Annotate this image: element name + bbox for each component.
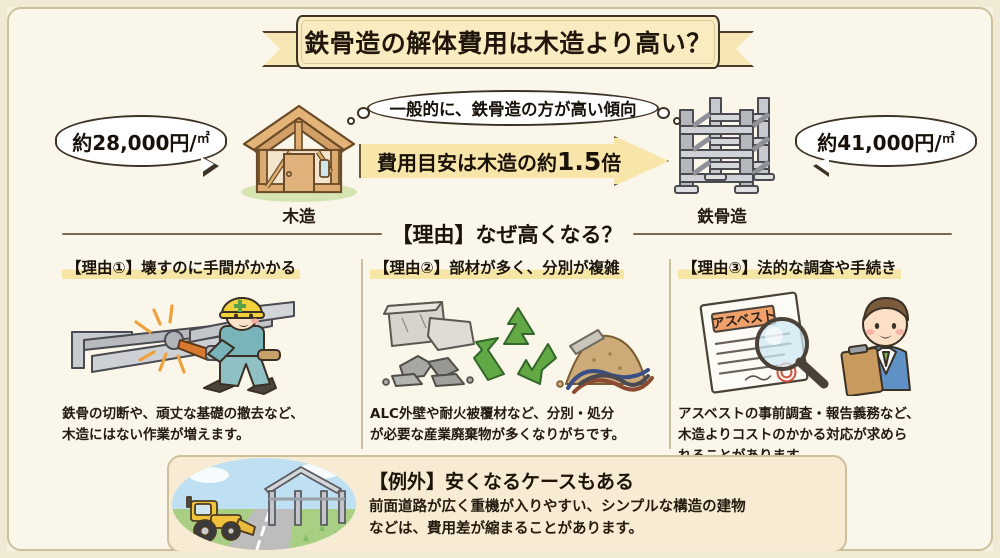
reason-1-illustration (62, 288, 358, 396)
page-title: 鉄骨造の解体費用は木造より高い？ (304, 24, 712, 60)
wood-price-value: 約28,000円/ (72, 131, 196, 155)
reason-2-header: 【理由②】部材が多く、分別が複雑 (370, 255, 624, 280)
cost-ratio-value: 1.5 (557, 147, 601, 176)
cost-ratio-suffix: 倍 (601, 151, 621, 175)
wood-bubble-tail-fill (201, 157, 214, 173)
reason-2-illustration (370, 288, 666, 396)
reason-column-3: 【理由③】法的な調査や手続き アスベスト (678, 255, 974, 467)
reason-2-body: ALC外壁や耐火被覆材など、分別・処分 が必要な産業廃棄物が多くなりがちです。 (370, 404, 666, 446)
reason-3-header: 【理由③】法的な調査や手続き (678, 255, 901, 280)
reason-1-body: 鉄骨の切断や、頑丈な基礎の撤去など、 木造にはない作業が増えます。 (62, 404, 358, 446)
exception-illustration (169, 457, 359, 551)
steel-frame-illustration (662, 92, 792, 202)
cloud-dot-right-large (657, 107, 670, 119)
infographic-root: 鉄骨造の解体費用は木造より高い？ 約28,000円/㎡ 約41,000円/㎡ (0, 0, 1000, 558)
reason-1-header: 【理由①】壊すのに手間がかかる (62, 255, 300, 280)
cost-ratio-label: 費用目安は木造の約1.5倍 (361, 147, 621, 176)
reasons-section-divider: 【理由】なぜ高くなる？ (62, 217, 952, 251)
wood-house-illustration (232, 92, 367, 202)
divider-line-right (633, 233, 953, 235)
steel-bubble-tail-fill (816, 157, 829, 173)
reason-column-1: 【理由①】壊すのに手間がかかる (62, 255, 358, 446)
trend-note-bubble: 一般的に、鉄骨造の方が高い傾向 (367, 90, 659, 126)
divider-line-left (62, 233, 382, 235)
column-separator-2 (669, 259, 671, 449)
ribbon-body: 鉄骨造の解体費用は木造より高い？ (296, 15, 720, 69)
cloud-dot-right-small (673, 117, 681, 125)
trend-note-text: 一般的に、鉄骨造の方が高い傾向 (389, 96, 636, 120)
wood-price-unit: ㎡ (197, 131, 210, 146)
cost-ratio-prefix: 費用目安は木造の約 (377, 151, 557, 175)
reasons-section-header: 【理由】なぜ高くなる？ (392, 219, 623, 249)
cloud-dot-left-small (347, 117, 355, 125)
steel-price-unit: ㎡ (942, 131, 955, 146)
exception-body: 前面道路が広く重機が入りやすい、シンプルな構造の建物 などは、費用差が縮まること… (369, 497, 746, 541)
exception-text-block: 【例外】安くなるケースもある 前面道路が広く重機が入りやすい、シンプルな構造の建… (359, 467, 746, 541)
exception-header: 【例外】安くなるケースもある (369, 467, 746, 494)
steel-price-value: 約41,000円/ (817, 131, 941, 155)
reason-column-2: 【理由②】部材が多く、分別が複雑 (370, 255, 666, 446)
column-separator-1 (361, 259, 363, 449)
reason-3-illustration: アスベスト (678, 288, 974, 396)
title-ribbon: 鉄骨造の解体費用は木造より高い？ (262, 15, 754, 71)
exception-panel: 【例外】安くなるケースもある 前面道路が広く重機が入りやすい、シンプルな構造の建… (167, 455, 847, 553)
